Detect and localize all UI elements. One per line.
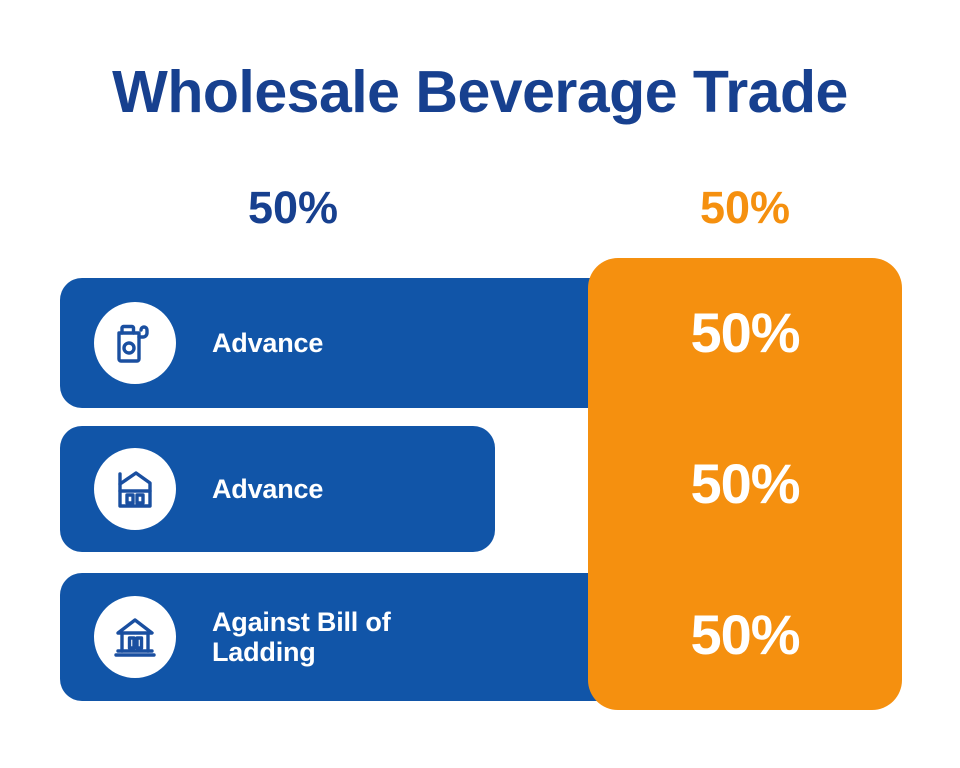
warehouse-icon xyxy=(94,448,176,530)
bar-row-label-line1: Against Bill of xyxy=(212,607,391,637)
value-panel: 50% 50% 50% xyxy=(588,258,902,710)
bar-row-label: Advance xyxy=(212,328,323,358)
value-cell: 50% xyxy=(588,258,902,409)
infographic-canvas: Wholesale Beverage Trade 50% 50% Advance xyxy=(0,0,960,768)
bar-row-label-line1: Advance xyxy=(212,328,323,358)
bar-row-label: Advance xyxy=(212,474,323,504)
column-header-right: 50% xyxy=(645,185,845,230)
jerry-can-icon xyxy=(94,302,176,384)
bar-row-label-line1: Advance xyxy=(212,474,323,504)
bar-row[interactable]: Against Bill of Ladding xyxy=(60,573,640,701)
value-cell: 50% xyxy=(588,409,902,560)
bar-row[interactable]: Advance xyxy=(60,278,640,408)
column-header-left: 50% xyxy=(193,185,393,230)
value-cell: 50% xyxy=(588,559,902,710)
bar-row[interactable]: Advance xyxy=(60,426,495,552)
bank-icon xyxy=(94,596,176,678)
bar-row-label: Against Bill of Ladding xyxy=(212,607,391,667)
page-title: Wholesale Beverage Trade xyxy=(0,62,960,124)
bar-row-label-line2: Ladding xyxy=(212,637,391,667)
